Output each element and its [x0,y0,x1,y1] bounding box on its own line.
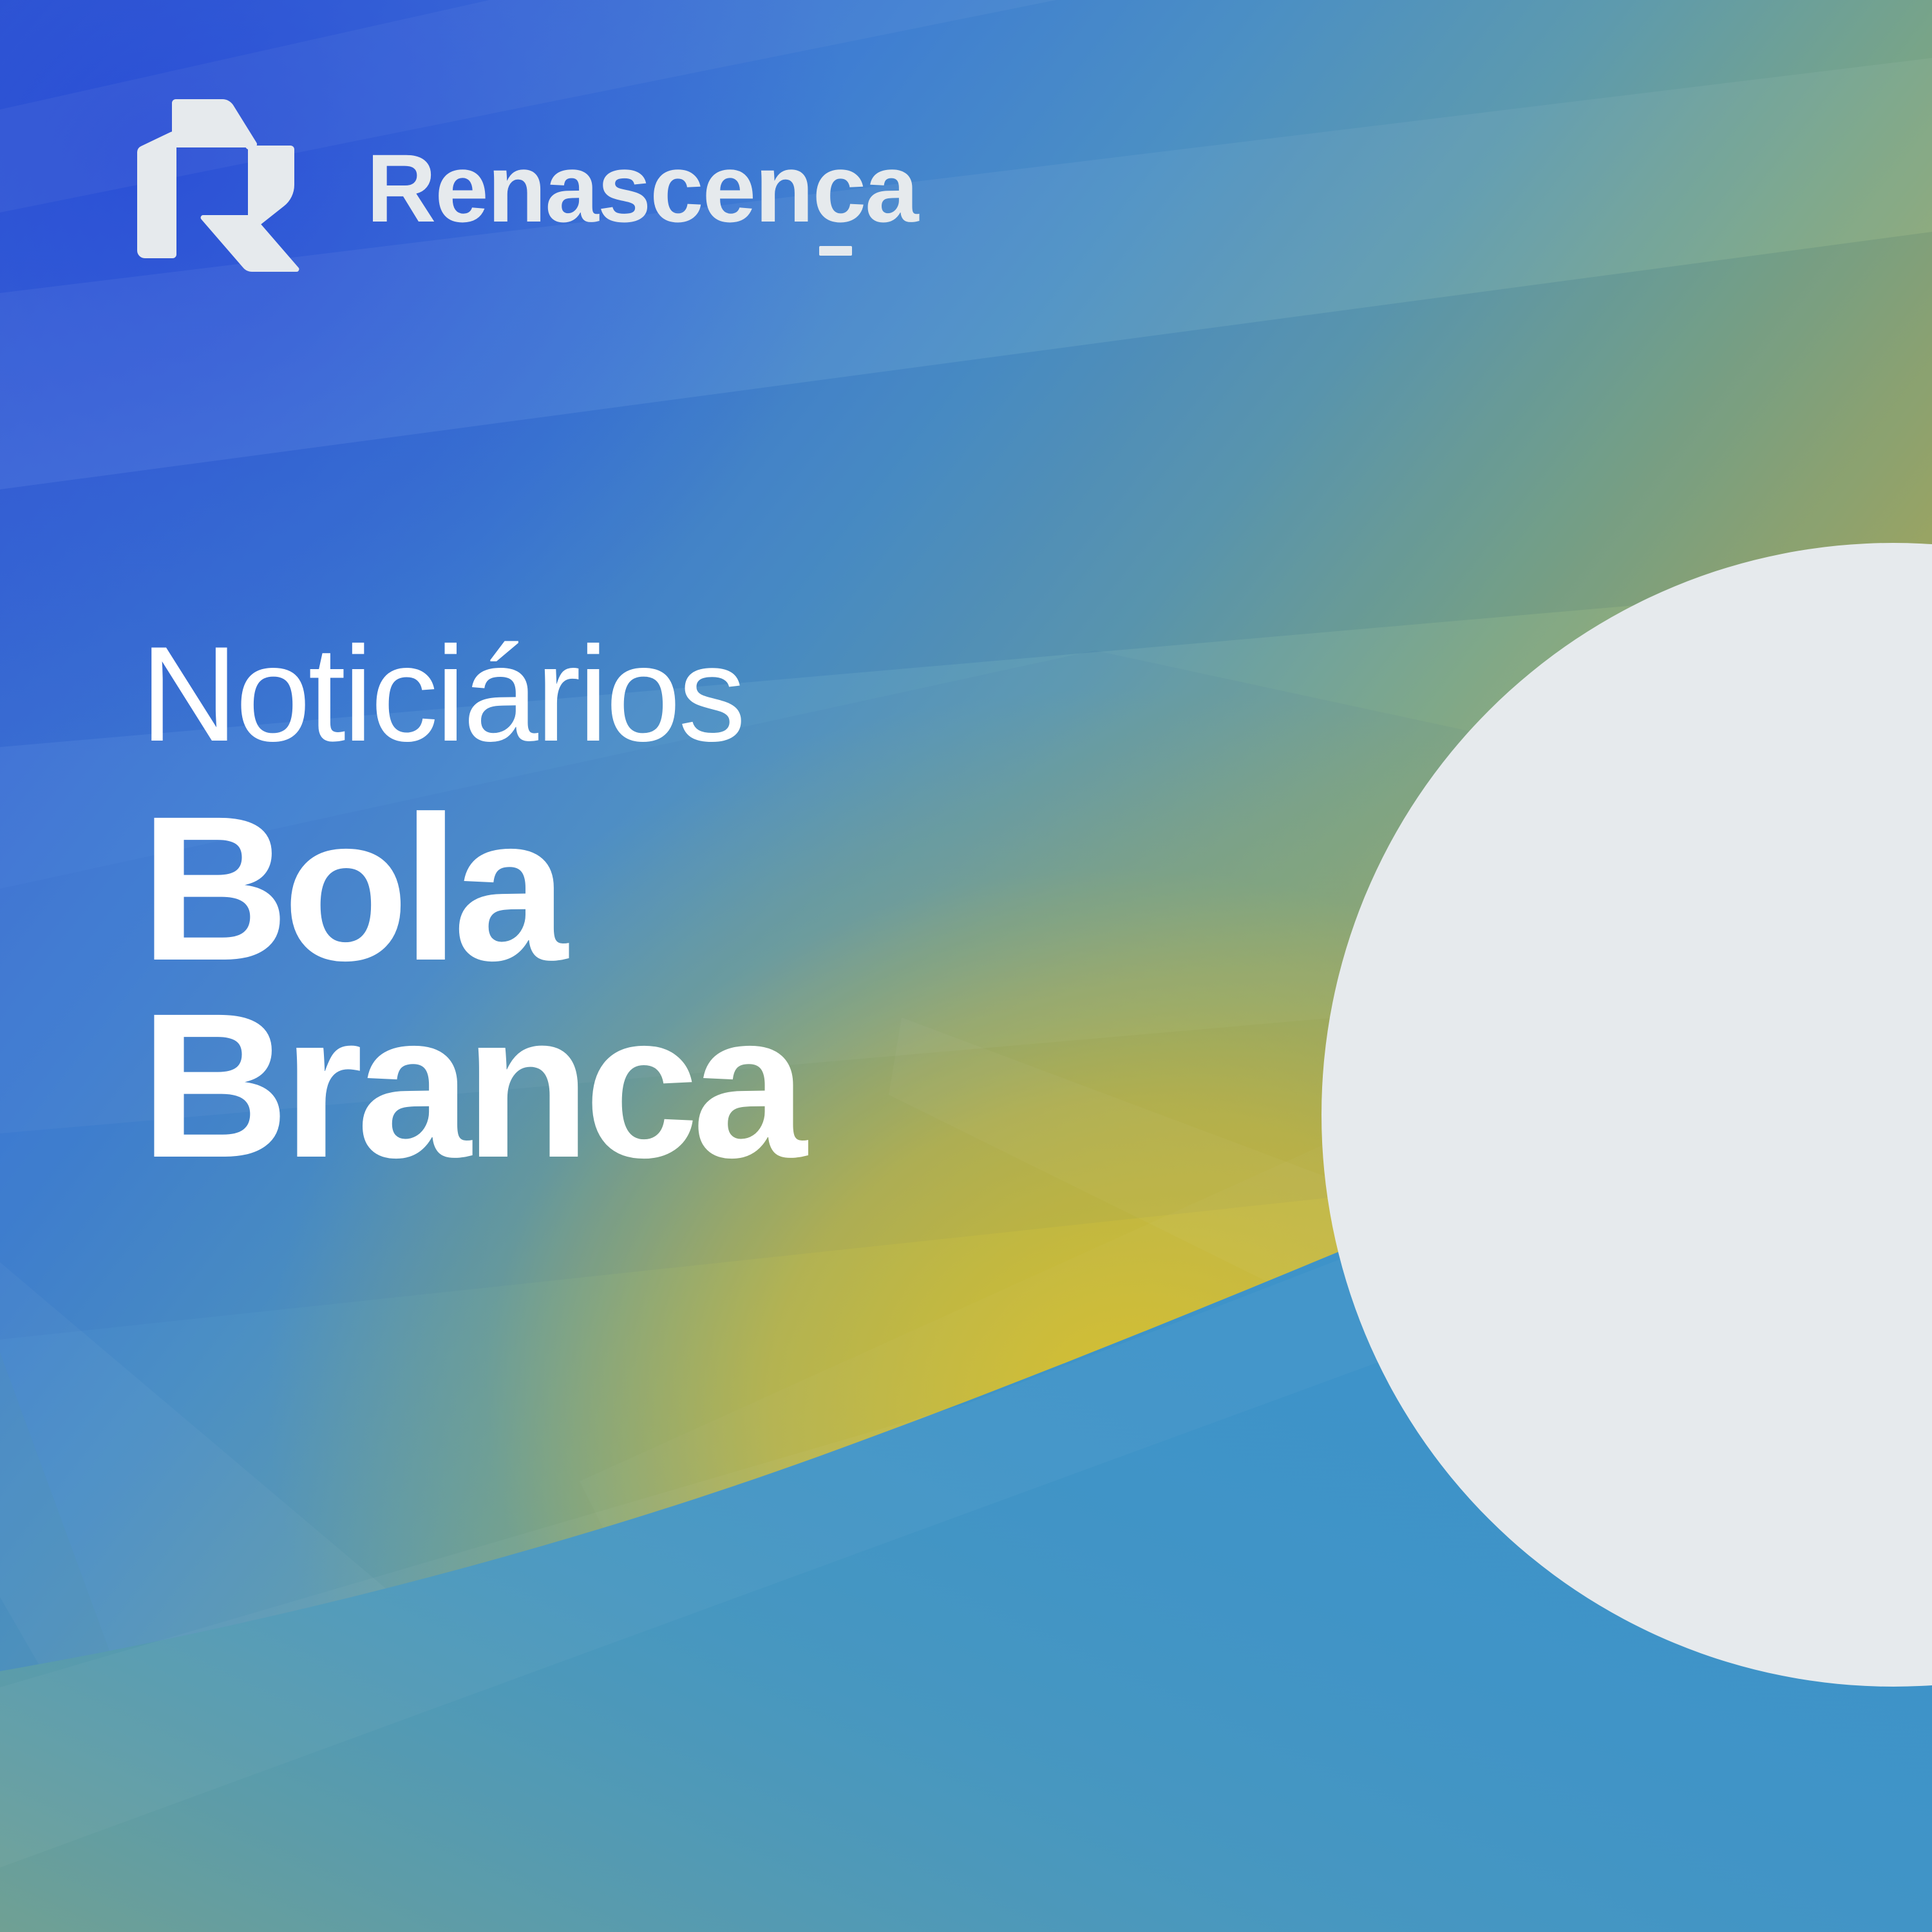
renascenca-logo-lockup[interactable]: Renascenca [132,95,918,273]
title-line-1: Bola [140,788,800,990]
renascenca-wordmark: Renascenca [366,140,918,236]
title-block: Noticiários Bola Branca [140,618,800,1186]
podcast-cover-art: Renascenca Noticiários Bola Branca [0,0,1932,1932]
title-line-2: Branca [140,985,800,1187]
wordmark-part-3: a [865,134,917,242]
wordmark-cedilla-c: c [813,140,865,236]
renascenca-r-monogram-icon [132,95,305,273]
wordmark-part-1: Renascen [366,134,813,242]
title-kicker: Noticiários [140,618,800,770]
